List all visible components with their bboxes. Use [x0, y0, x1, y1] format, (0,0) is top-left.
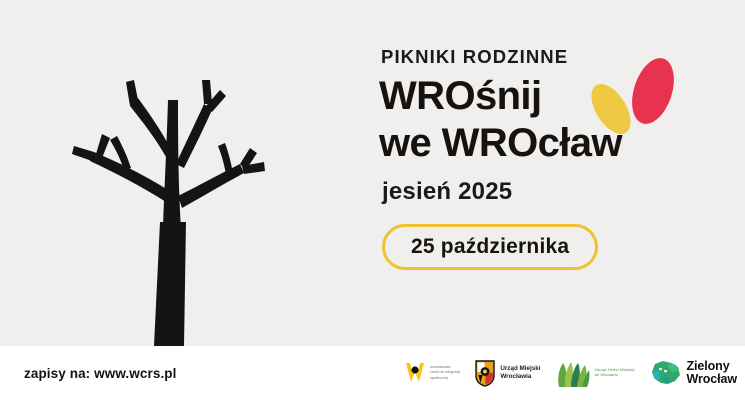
- zw-line-2: Wrocław: [687, 373, 737, 386]
- kicker-text: PIKNIKI RODZINNE: [381, 48, 719, 67]
- green-foliage-mark: [555, 358, 591, 388]
- partner-logo-row: wrocławskie centrum integracji społeczne…: [404, 358, 737, 388]
- wcrs-logo[interactable]: wrocławskie centrum integracji społeczne…: [404, 360, 460, 386]
- zw-line-1: Zielony: [687, 360, 737, 373]
- wcrs-logo-text: wrocławskie centrum integracji społeczne…: [430, 365, 460, 381]
- urzad-miejski-text: Urząd Miejski Wrocławia: [500, 365, 540, 382]
- zielony-wroclaw-text: Zielony Wrocław: [687, 360, 737, 387]
- title-line-1: WROśnij: [379, 76, 719, 117]
- green-city-map-mark: [649, 358, 683, 388]
- wroclaw-coat-of-arms: [474, 359, 496, 387]
- date-badge[interactable]: 25 października: [382, 224, 598, 270]
- tree-trunk-and-branches: [72, 80, 265, 346]
- zarzad-zieleni-miejskiej-logo[interactable]: Zarząd Zieleni Miejskiej we Wrocławiu: [555, 358, 635, 388]
- zzm-line-2: we Wrocławiu: [595, 373, 635, 378]
- poster-canvas: PIKNIKI RODZINNE WROśnij we WROcław jesi…: [0, 0, 745, 400]
- season-text: jesień 2025: [382, 178, 719, 206]
- um-line-2: Wrocławia: [500, 373, 540, 381]
- um-line-1: Urząd Miejski: [500, 365, 540, 373]
- footer-bar: zapisy na: www.wcrs.pl wrocławskie centr…: [0, 346, 745, 400]
- title-line-2: we WROcław: [379, 123, 719, 164]
- zzm-logo-text: Zarząd Zieleni Miejskiej we Wrocławiu: [595, 368, 635, 378]
- stylized-autumn-tree: [18, 14, 338, 346]
- headline-block: PIKNIKI RODZINNE WROśnij we WROcław jesi…: [379, 48, 719, 270]
- wcrs-line-3: społecznej: [430, 376, 460, 381]
- urzad-miejski-wroclawia-logo[interactable]: Urząd Miejski Wrocławia: [474, 359, 540, 387]
- signup-text: zapisy na: www.wcrs.pl: [24, 366, 177, 381]
- zielony-wroclaw-logo[interactable]: Zielony Wrocław: [649, 358, 737, 388]
- yellow-w-mark: [404, 360, 426, 386]
